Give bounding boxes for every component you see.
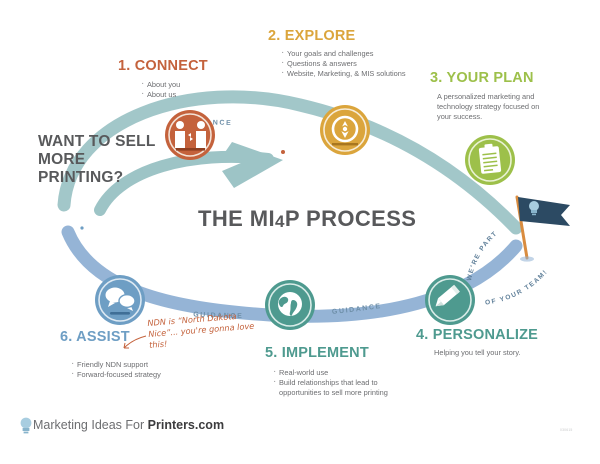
node-personalize[interactable] (425, 275, 475, 325)
node-explore[interactable] (320, 105, 370, 155)
process-title-sub: 4 (275, 212, 285, 231)
node-implement[interactable] (265, 280, 315, 330)
logo-lightbulb-icon (21, 418, 32, 434)
node-connect[interactable] (165, 110, 215, 160)
step-bullets-assist: Friendly NDN support Forward-focused str… (70, 360, 210, 380)
list-item: Your goals and challenges (280, 49, 410, 59)
infographic-canvas: GUIDANCE GUIDANCE GUIDANCE (0, 0, 600, 464)
process-title-post: P PROCESS (285, 206, 417, 231)
list-item: About you (140, 80, 260, 90)
clipboard-icon (479, 144, 502, 174)
brand-logo-text: Marketing Ideas For Printers.com (33, 418, 224, 432)
brand-logo-light: Marketing Ideas For (33, 418, 148, 432)
globe-icon (278, 292, 302, 316)
list-item: Real-world use (272, 368, 402, 378)
step-title-personalize: 4. PERSONALIZE (416, 327, 538, 343)
step-bullets-implement: Real-world use Build relationships that … (272, 368, 402, 398)
node-assist[interactable] (95, 275, 145, 325)
process-title-pre: THE MI (198, 206, 275, 231)
step-bullets-connect: About you About us (140, 80, 260, 100)
step-bullets-explore: Your goals and challenges Questions & an… (280, 49, 410, 79)
step-title-your-plan: 3. YOUR PLAN (430, 70, 534, 86)
step-title-assist: 6. ASSIST (60, 329, 130, 345)
list-item: About us (140, 90, 260, 100)
step-title-explore: 2. EXPLORE (268, 28, 355, 44)
brand-logo-bold: Printers.com (148, 418, 224, 432)
list-item: Friendly NDN support (70, 360, 210, 370)
list-item: Questions & answers (280, 59, 410, 69)
step-description-personalize: Helping you tell your story. (434, 348, 574, 358)
list-item: Forward-focused strategy (70, 370, 210, 380)
micro-code-text: 030615 (560, 428, 573, 432)
step-title-connect: 1. CONNECT (118, 58, 208, 74)
step-title-implement: 5. IMPLEMENT (265, 345, 369, 361)
node-your-plan[interactable] (465, 135, 515, 185)
list-item: Build relationships that lead to opportu… (272, 378, 402, 398)
page-headline: WANT TO SELL MORE PRINTING? (38, 133, 168, 187)
list-item: Website, Marketing, & MIS solutions (280, 69, 410, 79)
step-description-your-plan: A personalized marketing and technology … (437, 92, 555, 122)
process-title: THE MI4P PROCESS (198, 206, 448, 232)
